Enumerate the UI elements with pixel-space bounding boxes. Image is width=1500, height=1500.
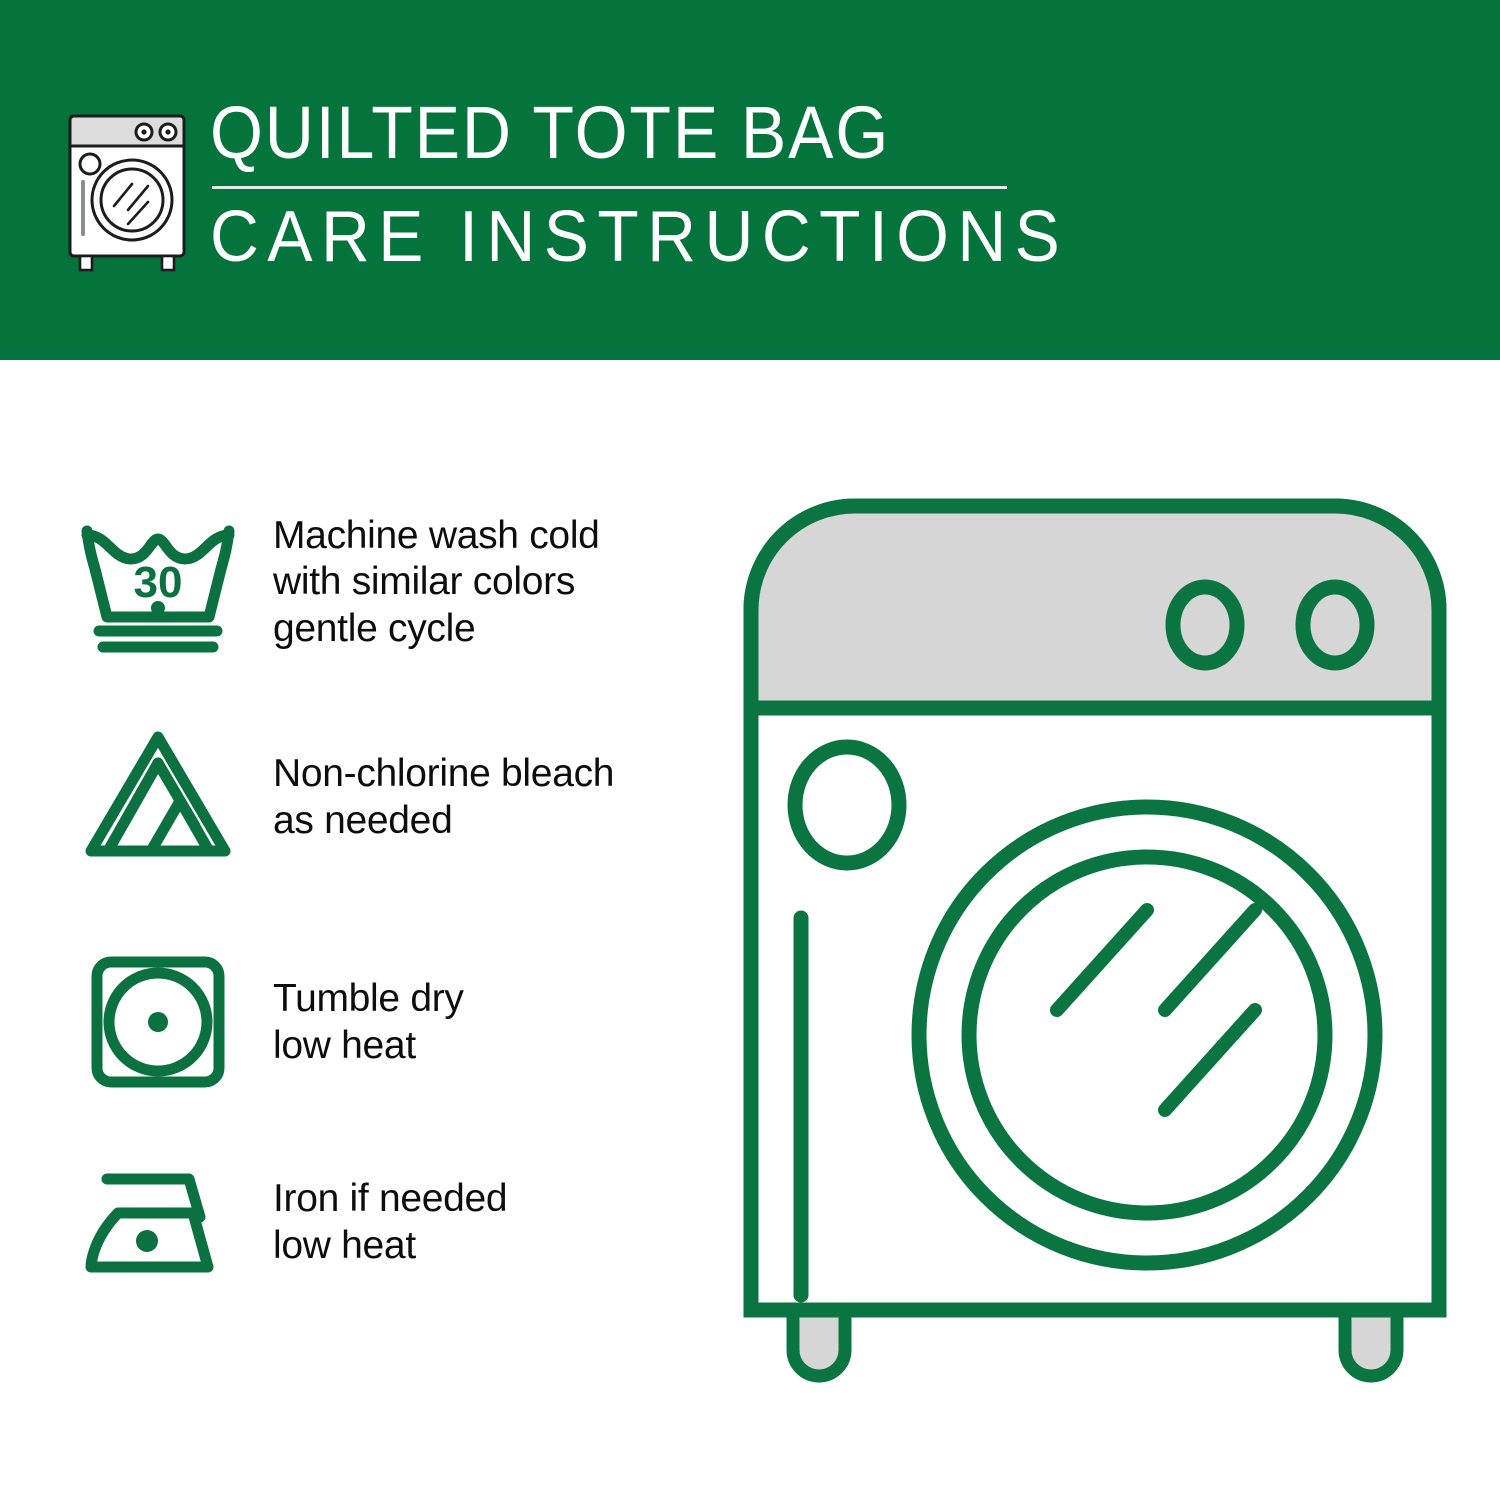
care-row-tumble-dry: Tumble dry low heat [70, 910, 710, 1135]
page-title: QUILTED TOTE BAG [210, 96, 1050, 170]
care-label-line: gentle cycle [273, 606, 600, 652]
care-label-bleach: Non-chlorine bleach as needed [273, 751, 614, 843]
non-chlorine-bleach-triangle-icon [73, 725, 243, 870]
care-row-bleach: Non-chlorine bleach as needed [70, 685, 710, 910]
care-symbol-list: 30 Machine wash cold with similar colors… [70, 480, 710, 1310]
wash-temperature-label: 30 [133, 558, 182, 607]
care-icon-slot [70, 725, 245, 870]
care-label-iron: Iron if needed low heat [273, 1176, 507, 1268]
detergent-drawer-circle[interactable] [795, 747, 899, 863]
header-text-block: QUILTED TOTE BAG CARE INSTRUCTIONS [210, 96, 1123, 273]
dial-left[interactable] [1173, 587, 1237, 663]
care-icon-slot [70, 950, 245, 1095]
care-label-line: with similar colors [273, 559, 600, 605]
tumble-dry-low-heat-icon [83, 950, 233, 1095]
washing-machine-icon [62, 108, 192, 273]
main-content: 30 Machine wash cold with similar colors… [0, 360, 1500, 1500]
title-divider [212, 186, 1007, 189]
page-subtitle: CARE INSTRUCTIONS [210, 201, 1068, 273]
header-banner: QUILTED TOTE BAG CARE INSTRUCTIONS [0, 0, 1500, 360]
care-icon-slot [70, 1163, 245, 1283]
iron-heat-dot [136, 1230, 158, 1252]
wash-tub-30-gentle-icon: 30 [73, 513, 243, 653]
iron-low-heat-icon [73, 1163, 243, 1283]
care-label-line: as needed [273, 798, 614, 844]
care-label-line: Tumble dry [273, 976, 464, 1022]
care-label-tumble-dry: Tumble dry low heat [273, 976, 464, 1068]
front-load-washing-machine-illustration [735, 490, 1455, 1440]
care-instructions-infographic: QUILTED TOTE BAG CARE INSTRUCTIONS [0, 0, 1500, 1500]
care-icon-slot: 30 [70, 513, 245, 653]
care-label-line: Machine wash cold [273, 513, 600, 559]
care-label-line: low heat [273, 1223, 507, 1269]
care-label-line: Iron if needed [273, 1176, 507, 1222]
dial-right[interactable] [1303, 587, 1367, 663]
care-label-machine-wash: Machine wash cold with similar colors ge… [273, 513, 600, 651]
care-row-machine-wash: 30 Machine wash cold with similar colors… [70, 480, 710, 685]
wash-dot [151, 601, 165, 615]
care-row-iron: Iron if needed low heat [70, 1135, 710, 1310]
dryer-heat-dot [148, 1012, 168, 1032]
header-content: QUILTED TOTE BAG CARE INSTRUCTIONS [62, 96, 1123, 273]
care-label-line: Non-chlorine bleach [273, 751, 614, 797]
care-label-line: low heat [273, 1023, 464, 1069]
